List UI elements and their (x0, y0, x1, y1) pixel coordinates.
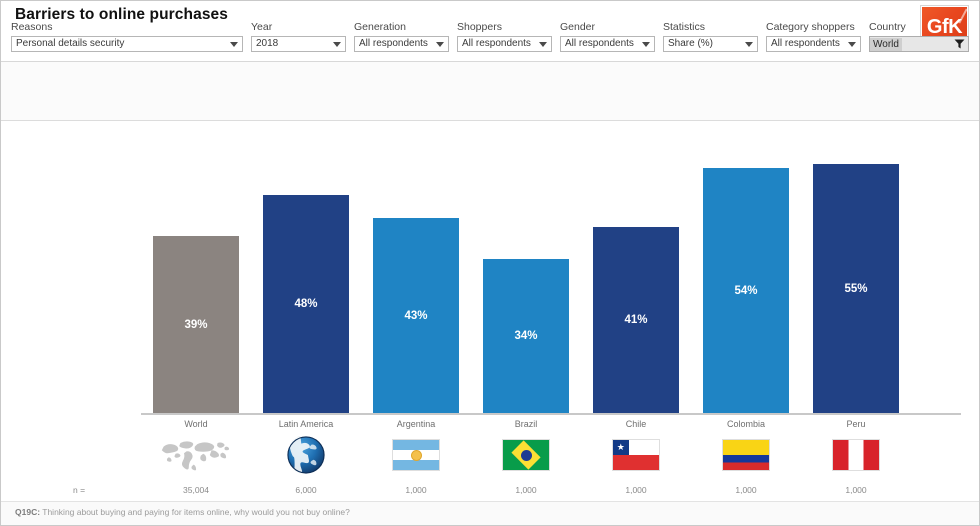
flag-cell (141, 433, 251, 477)
dashboard-page: Barriers to online purchases GfK Reasons… (1, 1, 979, 525)
bar-value-label: 55% (813, 283, 899, 295)
flag-peru-icon (833, 440, 879, 470)
flag-colombia-icon (723, 440, 769, 470)
chevron-down-icon[interactable] (226, 37, 242, 51)
filter-country: CountryWorld (869, 21, 969, 52)
bar-slot: 41% (593, 141, 679, 413)
bar-value-label: 39% (153, 319, 239, 331)
filter-value: 2018 (252, 37, 329, 51)
bar-value-label: 41% (593, 314, 679, 326)
flag-cell (361, 433, 471, 477)
chevron-down-icon[interactable] (741, 37, 757, 51)
chevron-down-icon[interactable] (329, 37, 345, 51)
flag-chile-icon: ★ (613, 440, 659, 470)
bar-peru[interactable]: 55% (813, 164, 899, 413)
footer: Q19C: Thinking about buying and paying f… (1, 501, 979, 525)
sample-size-row: n = 35,0046,0001,0001,0001,0001,0001,000 (1, 483, 979, 501)
bar-slot: 54% (703, 141, 789, 413)
filter-gender: GenderAll respondents (560, 21, 655, 52)
bar-world[interactable]: 39% (153, 236, 239, 413)
category-label-chile: Chile (581, 419, 691, 429)
chevron-down-icon[interactable] (432, 37, 448, 51)
sample-size-value: 1,000 (581, 485, 691, 495)
filter-label: Statistics (663, 21, 758, 34)
filter-shoppers: ShoppersAll respondents (457, 21, 552, 52)
filter-select-reasons[interactable]: Personal details security (11, 36, 243, 52)
bar-chile[interactable]: 41% (593, 227, 679, 413)
sample-size-value: 6,000 (251, 485, 361, 495)
category-labels: WorldLatin AmericaArgentinaBrazilChileCo… (141, 417, 961, 433)
bar-slot: 43% (373, 141, 459, 413)
bar-argentina[interactable]: 43% (373, 218, 459, 413)
filter-select-statistics[interactable]: Share (%) (663, 36, 758, 52)
chevron-down-icon[interactable] (638, 37, 654, 51)
funnel-icon[interactable] (953, 38, 966, 50)
chevron-down-icon[interactable] (535, 37, 551, 51)
filter-label: Gender (560, 21, 655, 34)
bar-value-label: 48% (263, 298, 349, 310)
filter-label: Year (251, 21, 346, 34)
flag-cell (691, 433, 801, 477)
filter-value: Share (%) (664, 37, 741, 51)
filter-value: All respondents (458, 37, 535, 51)
filter-select-country[interactable]: World (869, 36, 969, 52)
chart-area: 39%48%43%34%41%54%55% WorldLatin America… (1, 121, 979, 525)
world-map-icon (160, 438, 232, 472)
bar-latin-america[interactable]: 48% (263, 195, 349, 413)
category-label-colombia: Colombia (691, 419, 801, 429)
filter-select-shoppers[interactable]: All respondents (457, 36, 552, 52)
flag-row: ★ (141, 433, 961, 481)
category-label-brazil: Brazil (471, 419, 581, 429)
filter-label: Generation (354, 21, 449, 34)
filter-reasons: ReasonsPersonal details security (11, 21, 243, 52)
question-code: Q19C: (15, 507, 40, 517)
sample-size-value: 1,000 (471, 485, 581, 495)
filter-value: Personal details security (12, 37, 226, 51)
filter-select-category-shoppers[interactable]: All respondents (766, 36, 861, 52)
filter-bar (1, 62, 979, 120)
bar-value-label: 43% (373, 310, 459, 322)
bar-slot: 39% (153, 141, 239, 413)
sample-size-value: 35,004 (141, 485, 251, 495)
flag-cell (471, 433, 581, 477)
bar-slot: 55% (813, 141, 899, 413)
filter-select-gender[interactable]: All respondents (560, 36, 655, 52)
chevron-down-icon[interactable] (844, 37, 860, 51)
sample-size-value: 1,000 (361, 485, 471, 495)
filter-select-year[interactable]: 2018 (251, 36, 346, 52)
filter-select-generation[interactable]: All respondents (354, 36, 449, 52)
bar-value-label: 54% (703, 285, 789, 297)
category-label-argentina: Argentina (361, 419, 471, 429)
flag-cell (251, 433, 361, 477)
bar-plot: 39%48%43%34%41%54%55% (141, 141, 961, 413)
filter-value: All respondents (561, 37, 638, 51)
globe-americas-icon (287, 436, 325, 474)
sample-size-value: 1,000 (691, 485, 801, 495)
filter-label: Shoppers (457, 21, 552, 34)
bar-colombia[interactable]: 54% (703, 168, 789, 413)
filter-category-shoppers: Category shoppersAll respondents (766, 21, 861, 52)
flag-cell: ★ (581, 433, 691, 477)
question-text: Thinking about buying and paying for ite… (42, 507, 350, 517)
bar-slot: 34% (483, 141, 569, 413)
category-label-world: World (141, 419, 251, 429)
filter-value: All respondents (767, 37, 844, 51)
footnote: Q19C: Thinking about buying and paying f… (15, 507, 350, 517)
filter-label: Country (869, 21, 969, 34)
flag-brazil-icon (503, 440, 549, 470)
bar-slot: 48% (263, 141, 349, 413)
flag-argentina-icon (393, 440, 439, 470)
filter-label: Category shoppers (766, 21, 861, 34)
sample-size-label: n = (73, 485, 85, 495)
x-axis-line (141, 413, 961, 415)
filter-year: Year2018 (251, 21, 346, 52)
filter-label: Reasons (11, 21, 243, 34)
category-label-peru: Peru (801, 419, 911, 429)
filter-value: All respondents (355, 37, 432, 51)
bar-value-label: 34% (483, 330, 569, 342)
filter-statistics: StatisticsShare (%) (663, 21, 758, 52)
filter-value: World (870, 38, 902, 51)
filter-generation: GenerationAll respondents (354, 21, 449, 52)
sample-size-value: 1,000 (801, 485, 911, 495)
category-label-latin-america: Latin America (251, 419, 361, 429)
flag-cell (801, 433, 911, 477)
bar-brazil[interactable]: 34% (483, 259, 569, 413)
